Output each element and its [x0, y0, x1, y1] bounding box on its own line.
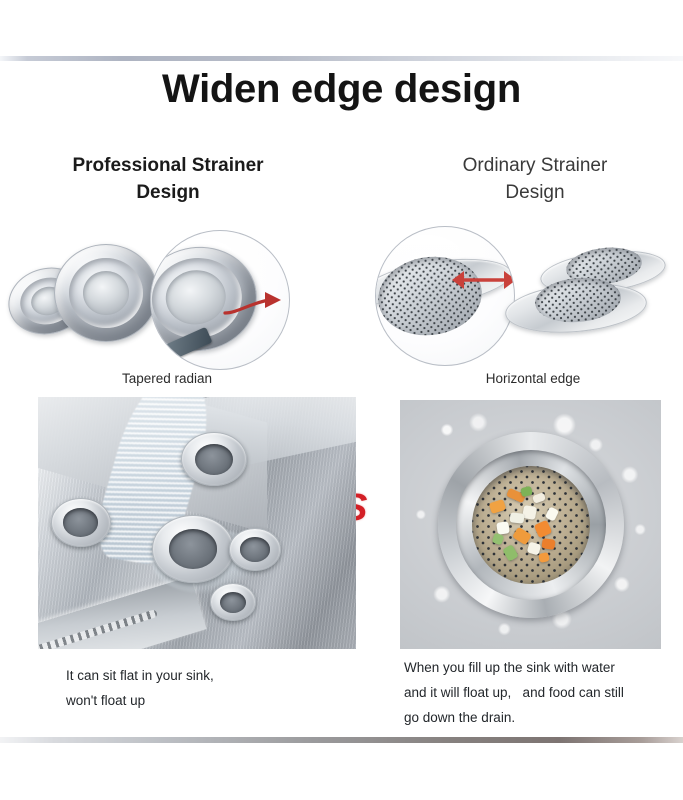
drain-with-food-scraps-photo	[400, 400, 661, 649]
professional-edge-magnifier-icon	[150, 230, 290, 370]
food-scrap-6	[534, 520, 552, 538]
sink-strainer-1	[51, 498, 111, 547]
tapered-edge-arrow-icon	[221, 287, 287, 321]
left-edge-caption: Tapered radian	[17, 371, 317, 386]
bottom-divider-rule	[0, 737, 683, 743]
right-caption-line3: go down the drain.	[404, 705, 679, 730]
food-scrap-9	[542, 538, 556, 550]
sink-strainer-5	[210, 583, 256, 621]
sink-strainer-4	[229, 528, 281, 571]
drain-strainer-basket	[472, 466, 590, 584]
right-heading-line1: Ordinary Strainer	[463, 155, 608, 176]
horizontal-edge-double-arrow-icon	[450, 267, 515, 293]
right-heading-line2: Design	[385, 179, 683, 206]
food-scrap-13	[532, 492, 546, 504]
product-comparison-strip: VS	[0, 222, 683, 372]
left-column-heading: Professional Strainer Design	[18, 152, 318, 206]
right-caption-line1: When you fill up the sink with water	[404, 655, 679, 680]
right-caption-line2: and it will float up, and food can still	[404, 680, 679, 705]
left-heading-line2: Design	[18, 179, 318, 206]
left-caption-line2: won't float up	[66, 688, 366, 713]
page-title: Widen edge design	[0, 67, 683, 112]
infographic-page: Widen edge design Professional Strainer …	[0, 0, 683, 800]
food-scrap-12	[545, 506, 559, 521]
food-scrap-3	[522, 505, 537, 520]
right-edge-caption: Horizontal edge	[383, 371, 683, 386]
left-photo-caption: It can sit flat in your sink, won't floa…	[66, 663, 366, 713]
top-divider-rule	[0, 56, 683, 61]
left-caption-line1: It can sit flat in your sink,	[66, 663, 366, 688]
left-heading-line1: Professional Strainer	[72, 155, 263, 176]
food-scrap-4	[497, 521, 511, 535]
sink-with-running-water-photo	[38, 397, 356, 649]
food-scrap-14	[510, 512, 525, 523]
right-column-heading: Ordinary Strainer Design	[385, 152, 683, 206]
food-scrap-1	[489, 499, 507, 514]
right-photo-caption: When you fill up the sink with water and…	[404, 655, 679, 730]
professional-strainer-front	[54, 244, 158, 342]
food-scrap-15	[538, 552, 550, 563]
sink-strainer-3	[152, 515, 234, 582]
food-scrap-8	[502, 544, 519, 562]
food-scrap-11	[520, 486, 533, 497]
ordinary-edge-magnifier-icon	[375, 226, 515, 366]
food-scrap-10	[491, 533, 504, 546]
professional-strainer-front-core	[83, 271, 129, 315]
